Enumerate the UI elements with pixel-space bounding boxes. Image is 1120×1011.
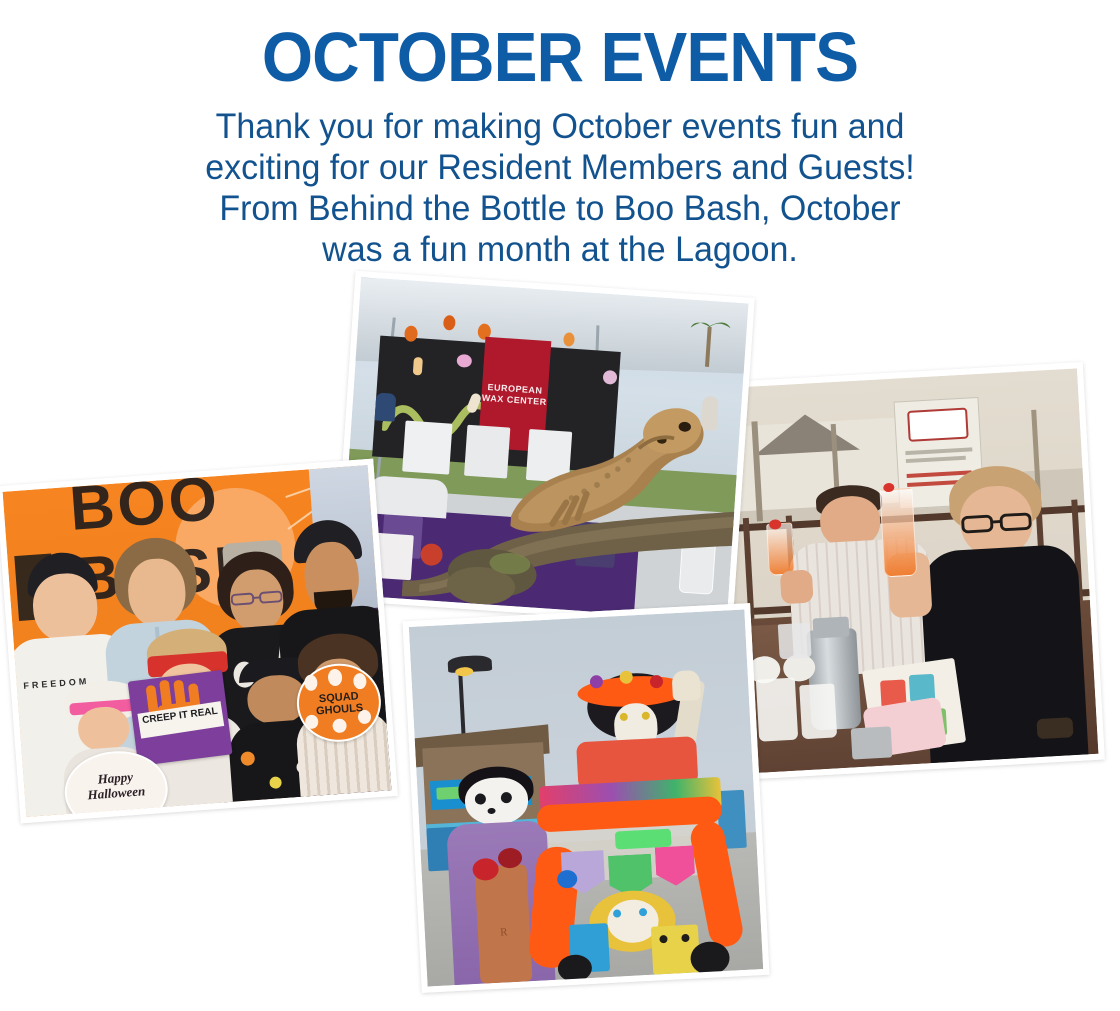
green-light-strip [615, 828, 672, 849]
papel-picado-pink [655, 845, 696, 886]
behind-the-bottle-photo-canvas [722, 368, 1099, 773]
background-person-2 [375, 393, 397, 422]
cocktail-glass-left [766, 522, 794, 575]
strainer [851, 727, 892, 760]
sign-text-line-1 [906, 447, 973, 455]
cart-wheel-left [557, 954, 593, 983]
sign-pictogram [907, 407, 969, 442]
dia-de-los-muertos-cart-photo: R [403, 603, 770, 993]
shot-glass [778, 623, 812, 659]
creep-it-real-prop: CREEP IT REAL [128, 669, 233, 765]
ghost-1-icon [303, 674, 317, 691]
bearded-dragon-lizard [459, 368, 743, 570]
yellow-skull-eye-right [681, 933, 689, 941]
hanging-pumpkin-1 [404, 325, 418, 342]
catrina-photo-canvas: R [409, 609, 763, 986]
palm-tree-icon [688, 306, 732, 369]
cocktail-glass-right [880, 488, 918, 578]
face [31, 571, 99, 643]
mixer-bottle-2 [799, 683, 838, 739]
catrina-hand [671, 669, 700, 701]
bearded-dragon-photo-canvas: EUROPEAN WAX CENTER [340, 277, 749, 621]
eyeglasses-icon [229, 585, 284, 611]
shaker-cap [813, 617, 850, 638]
sign-text-line-2 [906, 456, 966, 463]
decorated-golf-cart [512, 668, 743, 981]
apron-monogram: R [500, 926, 508, 938]
eyeglasses-icon [960, 505, 1034, 538]
ghost-3-icon [353, 672, 367, 689]
yellow-skull-eye-left [659, 935, 667, 943]
cart-wheel-right [690, 940, 730, 975]
mixer-bottle-1 [756, 678, 799, 742]
wristwatch [1037, 717, 1074, 740]
pumpkin-2-icon [332, 718, 347, 733]
boo-bash-group-photo: BOO BASH FREEDOM [0, 459, 398, 824]
bearded-dragon-photo: EUROPEAN WAX CENTER [333, 271, 755, 627]
ghost-2-icon [327, 668, 342, 686]
behind-the-bottle-photo [715, 362, 1105, 780]
man-hand [780, 569, 813, 604]
happy-halloween-text: Happy Halloween [70, 767, 163, 804]
boo-bash-photo-canvas: BOO BASH FREEDOM [3, 465, 392, 817]
photo-collage: EUROPEAN WAX CENTER [0, 0, 1120, 1011]
catrina-eye-right [641, 711, 649, 719]
hanging-candy-corn [413, 357, 423, 376]
face [76, 705, 130, 753]
page-root: OCTOBER EVENTS Thank you for making Octo… [0, 0, 1120, 1011]
